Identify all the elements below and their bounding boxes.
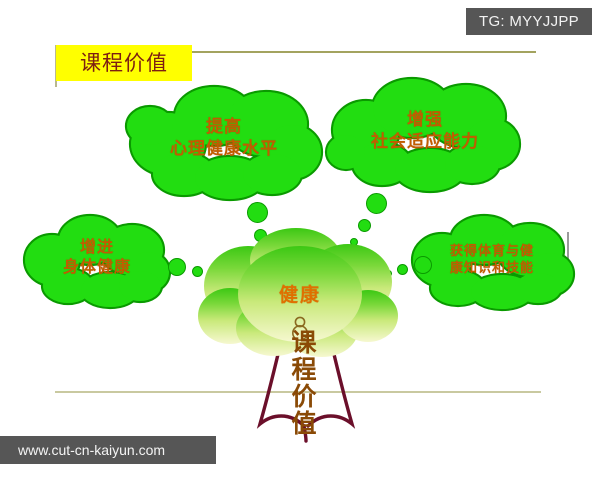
bubble-trail-r-1 bbox=[414, 256, 432, 274]
title-horizontal-rule bbox=[192, 51, 536, 53]
cloud-right: 获得体育与健 康知识和技能 bbox=[408, 212, 576, 308]
cloud-left: 增进 身体健康 bbox=[22, 210, 172, 306]
tree-canopy: 健康 bbox=[196, 228, 404, 358]
page-title: 课程价值 bbox=[56, 45, 192, 81]
tg-watermark-badge: TG: MYYJJPP bbox=[466, 8, 592, 35]
cloud-top-right: 增强 社会适应能力 bbox=[330, 72, 520, 190]
diagram-canvas: TG: MYYJJPP 课程价值 bbox=[0, 0, 600, 480]
url-watermark-bar: www.cut-cn-kaiyun.com bbox=[0, 436, 216, 464]
cloud-top-left: 提高 心理健康水平 bbox=[126, 78, 322, 198]
bubble-trail-tl-1 bbox=[247, 202, 268, 223]
bubble-trail-l-1 bbox=[168, 258, 186, 276]
bubble-trail-tr-1 bbox=[366, 193, 387, 214]
